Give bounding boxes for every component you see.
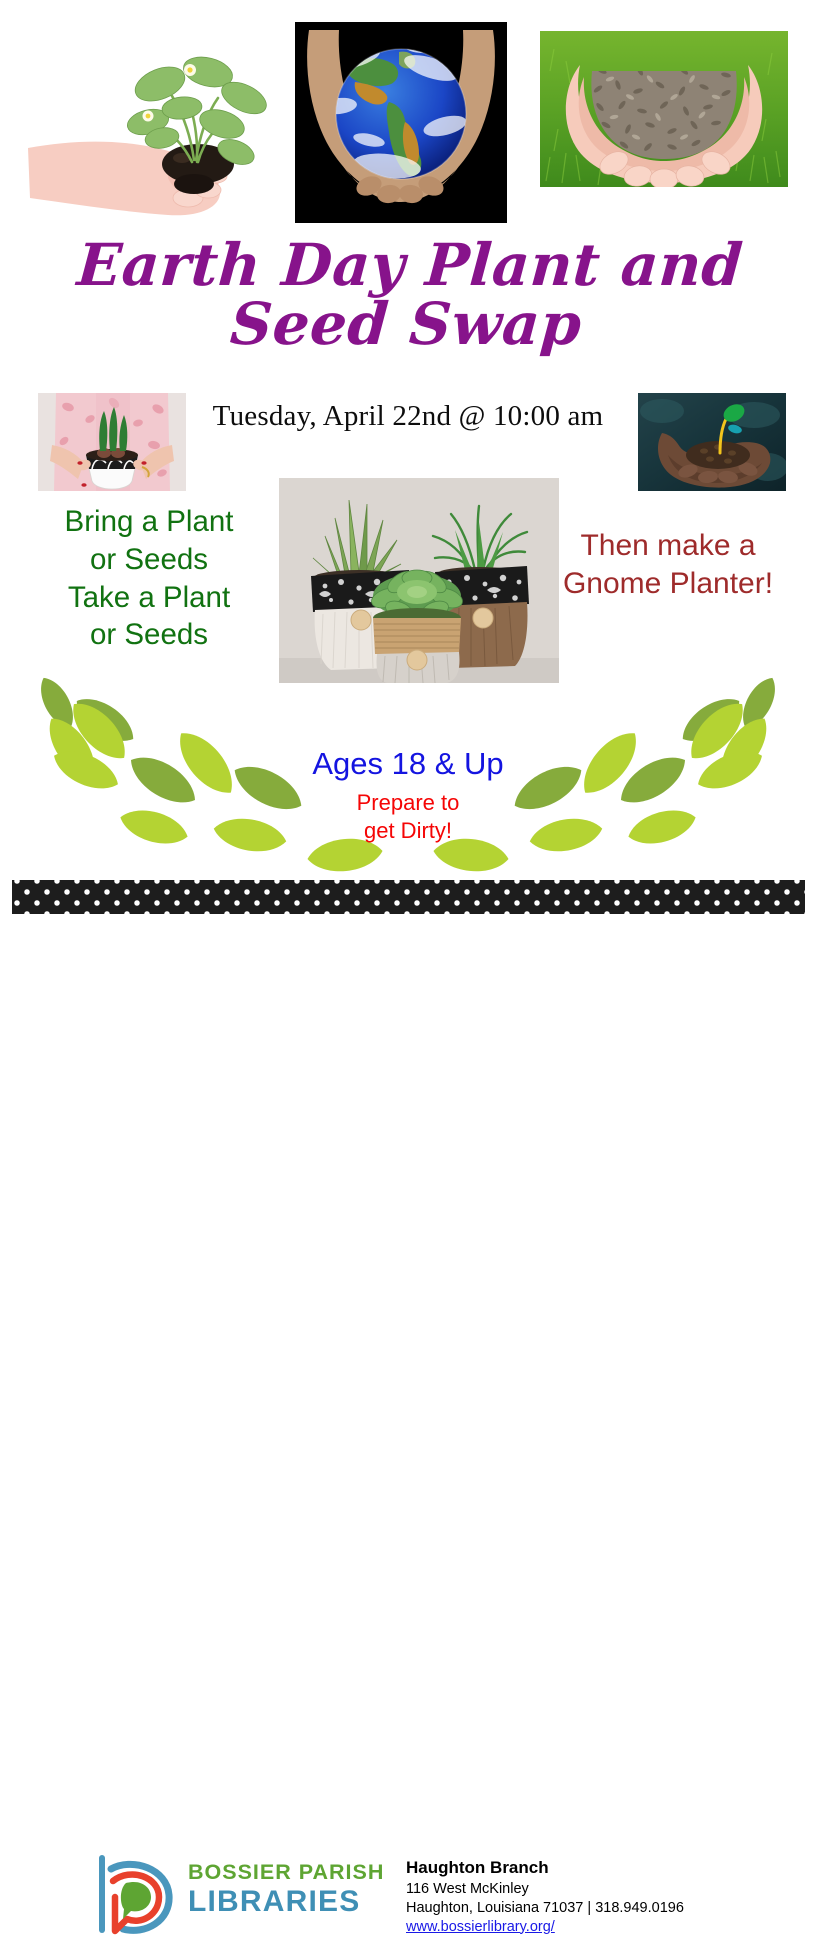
gnome-planter-text: Then make a Gnome Planter! xyxy=(530,527,806,604)
event-date-time: Tuesday, April 22nd @ 10:00 am xyxy=(0,400,816,433)
bring-take-text: Bring a Plant or Seeds Take a Plant or S… xyxy=(24,503,274,654)
library-wordmark: BOSSIER PARISH LIBRARIES xyxy=(188,1862,384,1917)
gnome-line-1: Then make a xyxy=(530,527,806,565)
photo-gnome-planters xyxy=(279,478,559,683)
bring-take-line-3: Take a Plant xyxy=(24,579,274,617)
branch-address: 116 West McKinley xyxy=(406,1880,766,1899)
wordmark-line-1: BOSSIER PARISH xyxy=(188,1862,384,1884)
prepare-text: Prepare to get Dirty! xyxy=(0,789,816,845)
footer: BOSSIER PARISH LIBRARIES Haughton Branch… xyxy=(0,925,816,1025)
bring-take-line-1: Bring a Plant xyxy=(24,503,274,541)
flyer-title: Earth Day Plant and Seed Swap xyxy=(0,236,816,354)
prepare-line-2: get Dirty! xyxy=(0,817,816,845)
photo-seedling-in-hand xyxy=(22,12,290,224)
flyer-page: Earth Day Plant and Seed Swap xyxy=(0,0,816,1056)
photo-hands-holding-earth xyxy=(295,22,507,223)
branch-city-phone: Haughton, Louisiana 71037 | 318.949.0196 xyxy=(406,1899,766,1918)
bring-take-line-2: or Seeds xyxy=(24,541,274,579)
library-website-link[interactable]: www.bossierlibrary.org/ xyxy=(406,1919,555,1935)
bossier-parish-libraries-logo-icon xyxy=(93,1853,181,1935)
ages-text: Ages 18 & Up xyxy=(0,746,816,782)
title-line-1: Earth Day Plant and xyxy=(75,231,745,299)
branch-name: Haughton Branch xyxy=(406,1857,766,1880)
branch-info: Haughton Branch 116 West McKinley Haught… xyxy=(406,1857,766,1936)
photo-hands-with-seeds xyxy=(540,31,788,187)
polka-dot-divider-band xyxy=(12,880,805,914)
gnome-line-2: Gnome Planter! xyxy=(530,565,806,603)
wordmark-line-2: LIBRARIES xyxy=(188,1887,384,1917)
bring-take-line-4: or Seeds xyxy=(24,616,274,654)
title-line-2: Seed Swap xyxy=(0,295,816,354)
prepare-line-1: Prepare to xyxy=(0,789,816,817)
